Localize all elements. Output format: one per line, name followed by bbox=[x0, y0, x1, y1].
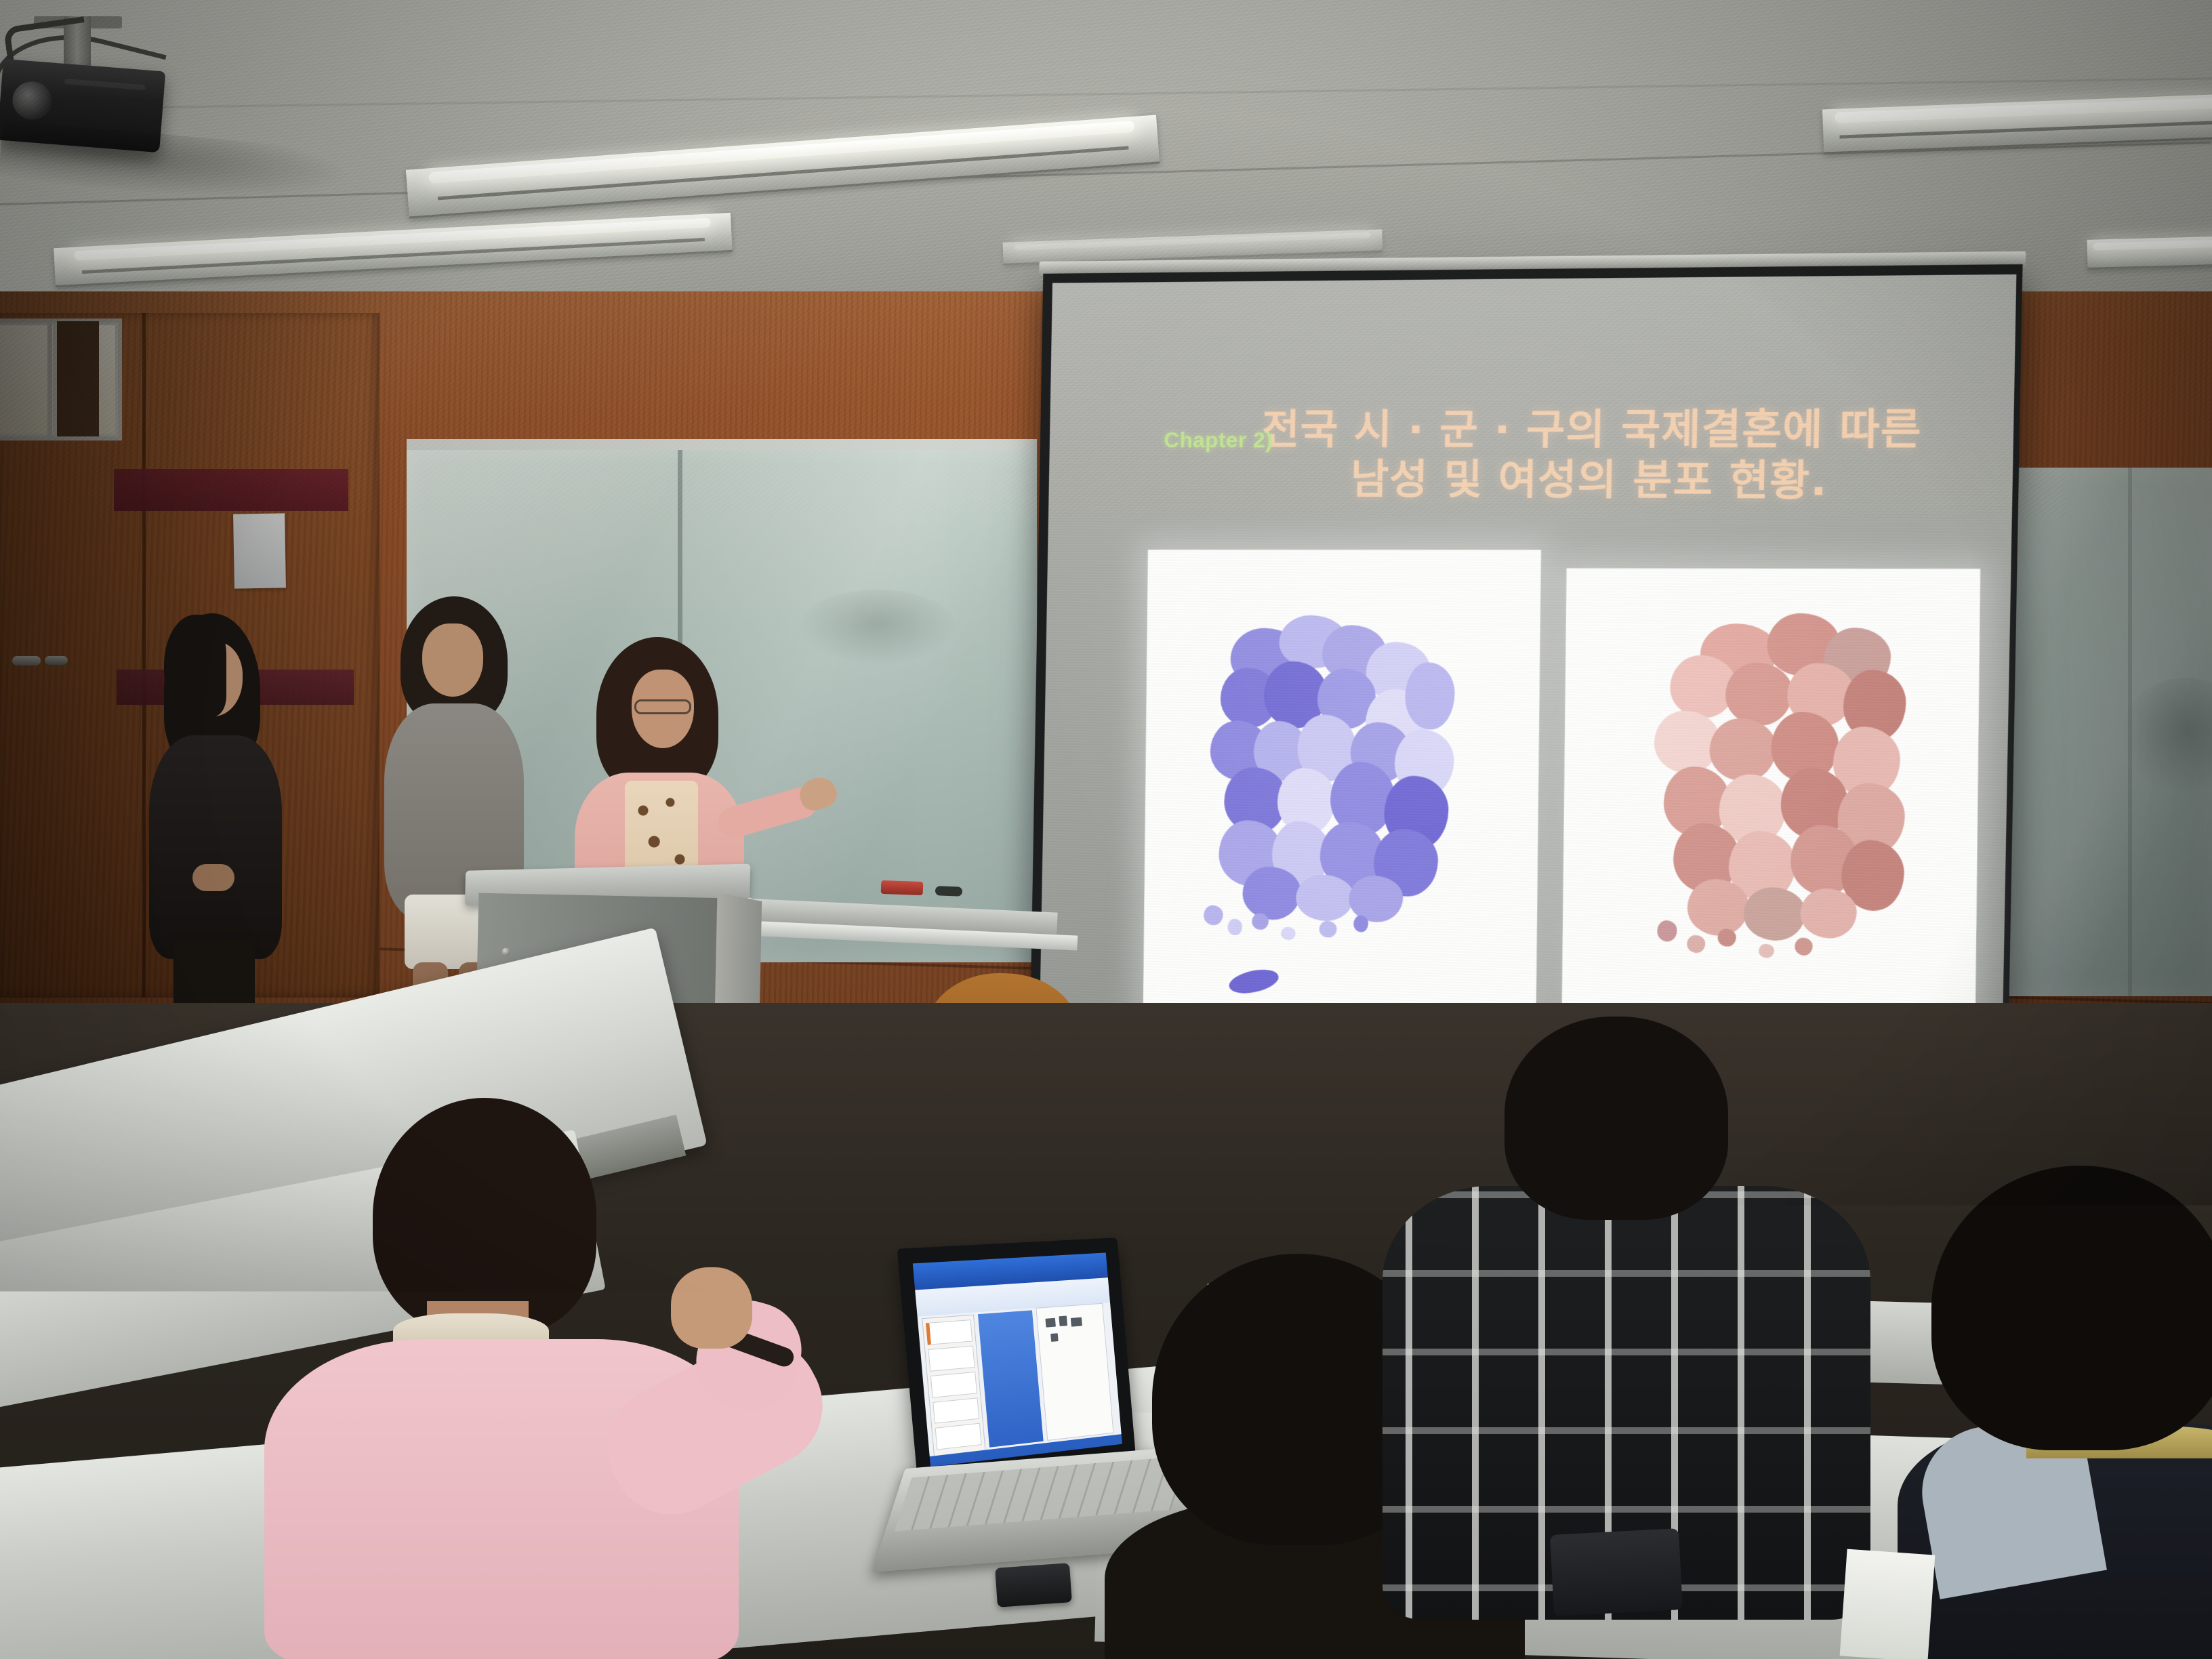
marker-on-table bbox=[935, 886, 962, 896]
slide-title: 전국 시 · 군 · 구의 국제결혼에 따른 남성 및 여성의 분포 현황. bbox=[1261, 404, 1910, 507]
hair-front bbox=[164, 615, 226, 716]
hands bbox=[192, 864, 234, 891]
slide-title-line-1: 전국 시 · 군 · 구의 국제결혼에 따른 bbox=[1261, 404, 1910, 455]
jeju-island-blue bbox=[1227, 966, 1281, 997]
classroom-presentation-photo: Chapter 2) 전국 시 · 군 · 구의 국제결혼에 따른 남성 및 여… bbox=[0, 0, 2212, 1659]
hair bbox=[373, 1098, 596, 1335]
hair bbox=[1504, 1017, 1728, 1220]
slide-editing-stage[interactable] bbox=[978, 1310, 1044, 1448]
laptop-side-pane[interactable] bbox=[1036, 1303, 1113, 1441]
glasses-icon bbox=[634, 699, 691, 714]
audience-pink-shirt bbox=[224, 1098, 861, 1659]
slide-thumbnail-pane[interactable] bbox=[922, 1314, 986, 1458]
object-on-desk[interactable] bbox=[1550, 1528, 1683, 1616]
face bbox=[422, 623, 483, 697]
slide-title-row: Chapter 2) 전국 시 · 군 · 구의 국제결혼에 따른 남성 및 여… bbox=[1130, 404, 1963, 507]
torso bbox=[149, 735, 282, 959]
map-canvas-blue bbox=[1143, 550, 1541, 1060]
hair bbox=[1931, 1166, 2212, 1450]
ceiling-light-fixture bbox=[2087, 234, 2212, 270]
phone-on-desk[interactable] bbox=[995, 1563, 1072, 1607]
laptop-screen[interactable] bbox=[913, 1252, 1122, 1467]
slide-title-line-2: 남성 및 여성의 분포 현황. bbox=[1261, 454, 1909, 506]
projector-lens-icon bbox=[11, 80, 53, 121]
korea-outline-blue bbox=[1213, 615, 1460, 951]
paper-on-desk bbox=[1840, 1549, 1935, 1659]
chapter-tag: Chapter 2) bbox=[1164, 428, 1273, 453]
korea-outline-red bbox=[1652, 619, 1912, 975]
red-object-on-table bbox=[881, 880, 924, 895]
maps-row bbox=[1141, 548, 1983, 1078]
male-distribution-map bbox=[1143, 550, 1541, 1060]
audience-right bbox=[1891, 1152, 2212, 1659]
laptop-lid bbox=[897, 1237, 1136, 1487]
raised-hand bbox=[671, 1267, 752, 1349]
